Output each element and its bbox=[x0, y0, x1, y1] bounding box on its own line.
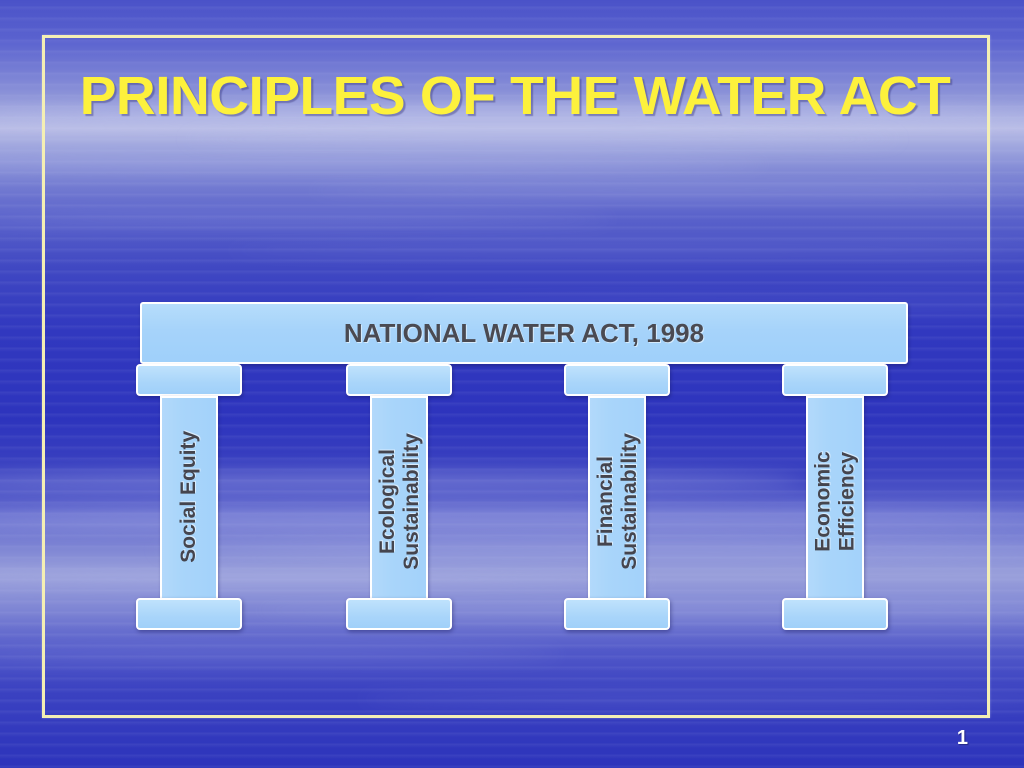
pillar-label: Social Equity bbox=[177, 431, 201, 563]
pillar-shaft: Ecological Sustainability bbox=[370, 396, 428, 608]
pillar-capital bbox=[564, 364, 670, 396]
pillar-financial-sustainability: Financial Sustainability bbox=[564, 364, 670, 630]
pillar-shaft: Economic Efficiency bbox=[806, 396, 864, 608]
pillar-label-line1: Ecological bbox=[375, 449, 398, 554]
pillar-shaft: Financial Sustainability bbox=[588, 396, 646, 608]
pillars-diagram: NATIONAL WATER ACT, 1998 Social Equity E… bbox=[130, 296, 920, 636]
cloud-wisp bbox=[184, 134, 901, 144]
slide-number: 1 bbox=[957, 727, 968, 750]
pillar-label-line1: Economic bbox=[811, 452, 834, 552]
pillar-label: Financial Sustainability bbox=[593, 434, 640, 571]
pillar-label: Economic Efficiency bbox=[811, 452, 858, 552]
pillar-ecological-sustainability: Ecological Sustainability bbox=[346, 364, 452, 630]
pillar-capital bbox=[136, 364, 242, 396]
cloud-wisp bbox=[225, 246, 1024, 254]
pillar-label: Ecological Sustainability bbox=[375, 434, 422, 571]
pillar-base bbox=[346, 598, 452, 630]
pillar-capital bbox=[346, 364, 452, 396]
pillar-social-equity: Social Equity bbox=[136, 364, 242, 630]
pillar-base bbox=[782, 598, 888, 630]
pillar-label-line1: Social Equity bbox=[177, 431, 200, 563]
diagram-lintel: NATIONAL WATER ACT, 1998 bbox=[140, 302, 908, 364]
pillar-base bbox=[136, 598, 242, 630]
pillar-shaft: Social Equity bbox=[160, 396, 218, 608]
pillar-capital bbox=[782, 364, 888, 396]
pillar-label-line1: Financial bbox=[593, 456, 616, 547]
pillar-label-line2: Efficiency bbox=[835, 452, 859, 552]
slide-title: PRINCIPLES OF THE WATER ACT bbox=[51, 68, 979, 125]
lintel-label: NATIONAL WATER ACT, 1998 bbox=[344, 318, 704, 349]
presentation-slide: PRINCIPLES OF THE WATER ACT NATIONAL WAT… bbox=[0, 0, 1024, 768]
pillar-base bbox=[564, 598, 670, 630]
pillar-label-line2: Sustainability bbox=[399, 434, 423, 571]
pillar-label-line2: Sustainability bbox=[617, 434, 641, 571]
pillar-economic-efficiency: Economic Efficiency bbox=[782, 364, 888, 630]
